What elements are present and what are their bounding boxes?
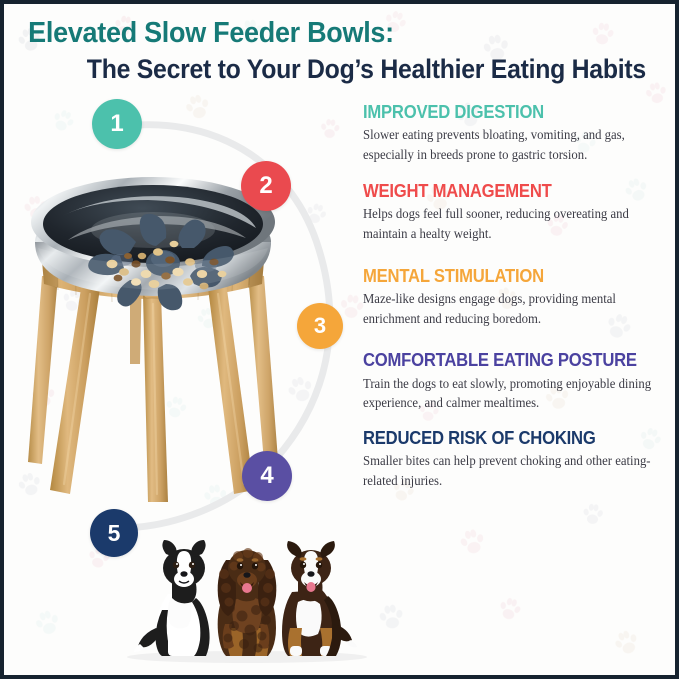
step-badge-2-number: 2	[259, 172, 272, 200]
step-badge-5-number: 5	[108, 520, 121, 547]
benefit-body-4: Train the dogs to eat slowly, promoting …	[363, 374, 659, 413]
cocker-spaniel	[218, 548, 277, 656]
benefit-heading-3: MENTAL STIMULATION	[363, 266, 644, 286]
benefit-item-mental-stimulation: MENTAL STIMULATION Maze-like designs eng…	[363, 266, 675, 329]
step-badge-1[interactable]: 1	[92, 99, 142, 149]
benefits-list: IMPROVED DIGESTION Slower eating prevent…	[363, 102, 675, 502]
benefit-heading-1: IMPROVED DIGESTION	[363, 102, 644, 122]
poster-title: Elevated Slow Feeder Bowls: The Secret t…	[4, 18, 679, 84]
step-badge-1-number: 1	[110, 110, 123, 138]
benefit-item-reduced-risk-of-choking: REDUCED RISK OF CHOKING Smaller bites ca…	[363, 428, 675, 491]
step-badge-4-number: 4	[260, 462, 273, 490]
benefit-heading-2: WEIGHT MANAGEMENT	[363, 181, 644, 201]
benefit-body-1: Slower eating prevents bloating, vomitin…	[363, 125, 659, 164]
dogs-illustration	[122, 524, 372, 664]
step-badge-4[interactable]: 4	[242, 451, 292, 501]
step-badge-2[interactable]: 2	[241, 161, 291, 211]
title-line-1: Elevated Slow Feeder Bowls:	[4, 18, 635, 48]
step-badge-3-number: 3	[314, 313, 326, 339]
border-collie	[134, 540, 210, 656]
benefit-body-3: Maze-like designs engage dogs, providing…	[363, 289, 659, 328]
step-badge-5[interactable]: 5	[90, 509, 138, 557]
benefit-body-5: Smaller bites can help prevent choking a…	[363, 451, 659, 490]
benefit-item-comfortable-eating-posture: COMFORTABLE EATING POSTURE Train the dog…	[363, 350, 675, 413]
benefit-body-2: Helps dogs feel full sooner, reducing ov…	[363, 204, 659, 243]
step-badge-3[interactable]: 3	[297, 303, 343, 349]
title-line-2: The Secret to Your Dog’s Healthier Eatin…	[4, 55, 629, 83]
australian-shepherd	[282, 541, 357, 656]
benefit-item-improved-digestion: IMPROVED DIGESTION Slower eating prevent…	[363, 102, 675, 165]
benefit-item-weight-management: WEIGHT MANAGEMENT Helps dogs feel full s…	[363, 181, 675, 244]
benefit-heading-5: REDUCED RISK OF CHOKING	[363, 428, 644, 448]
benefit-heading-4: COMFORTABLE EATING POSTURE	[363, 350, 644, 370]
infographic-poster: Elevated Slow Feeder Bowls: The Secret t…	[0, 0, 679, 679]
